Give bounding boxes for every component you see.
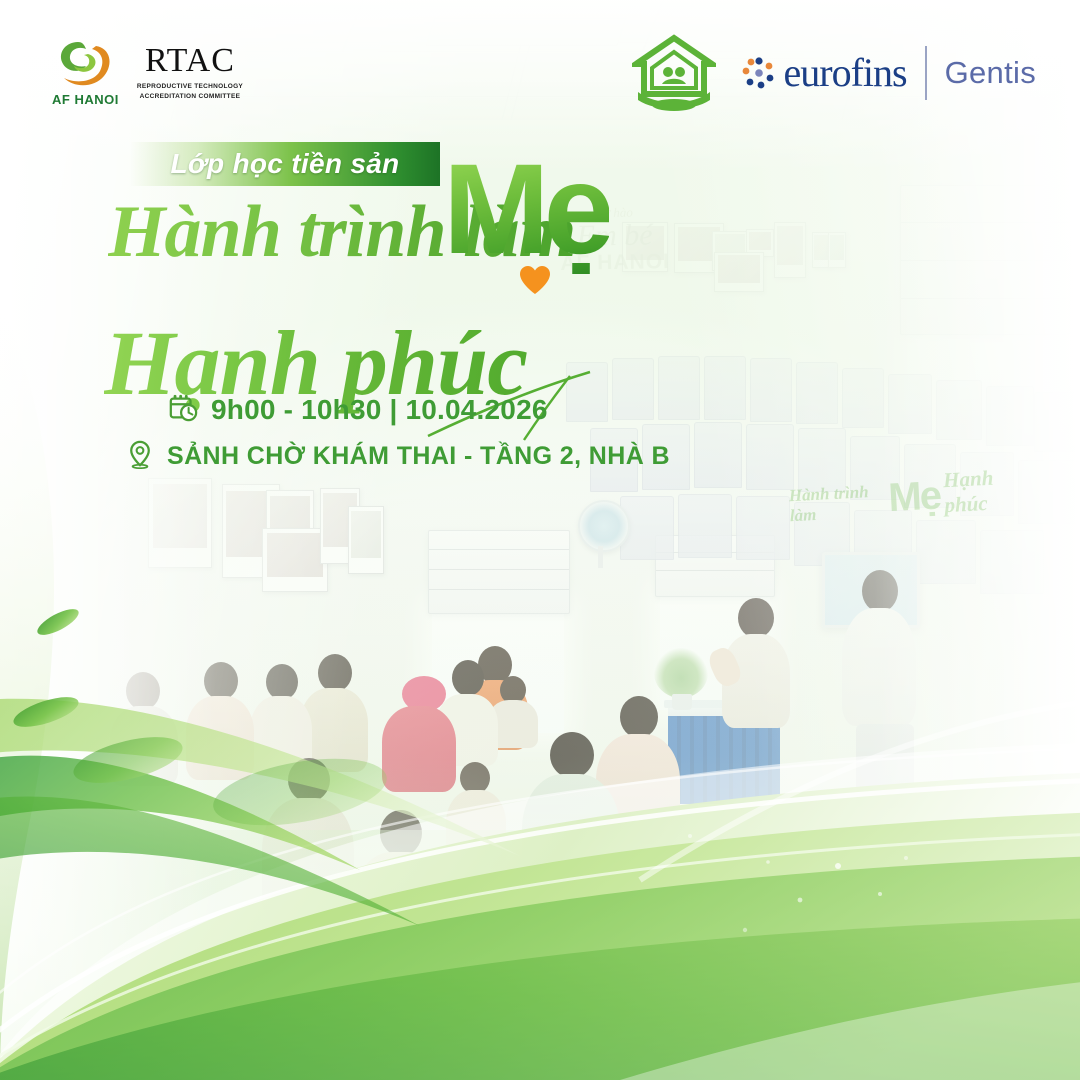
af-hanoi-logo: AF HANOI	[52, 38, 119, 107]
partner-logos-left: AF HANOI RTAC REPRODUCTIVE TECHNOLOGY AC…	[52, 38, 243, 107]
event-time-row: 9h00 - 10h30 | 10.04.2026	[168, 392, 670, 427]
event-info-block: 9h00 - 10h30 | 10.04.2026 SẢNH CHỜ KHÁM …	[168, 392, 670, 486]
rtac-subtitle: REPRODUCTIVE TECHNOLOGY ACCREDITATION CO…	[137, 82, 243, 102]
rtac-sub-line2: ACCREDITATION COMMITTEE	[137, 92, 243, 102]
event-time-text: 9h00 - 10h30 | 10.04.2026	[211, 394, 548, 426]
ribbon-text: Lớp học tiền sản	[171, 148, 400, 180]
event-location-text: SẢNH CHỜ KHÁM THAI - TẦNG 2, NHÀ B	[167, 442, 670, 471]
af-hanoi-label: AF HANOI	[52, 92, 119, 107]
partner-logos-right: eurofins Gentis	[632, 34, 1036, 112]
eurofins-gentis-logo: eurofins Gentis	[742, 46, 1036, 100]
hospital-logo	[632, 34, 716, 112]
location-pin-icon	[126, 439, 154, 474]
headline-line2: Hành trình làm Mẹ Hạnh phúc	[0, 182, 660, 292]
watermark-me: Mẹ	[887, 473, 941, 521]
ribbon-banner: Lớp học tiền sản	[130, 142, 440, 186]
rtac-sub-line1: REPRODUCTIVE TECHNOLOGY	[137, 82, 243, 92]
heart-icon	[519, 265, 551, 295]
gentis-name: Gentis	[945, 55, 1036, 91]
headline-word-me: Mẹ	[443, 146, 609, 274]
event-location-row: SẢNH CHỜ KHÁM THAI - TẦNG 2, NHÀ B	[126, 439, 670, 474]
eurofins-dots-icon	[742, 56, 776, 90]
af-hanoi-swirl-icon	[52, 38, 116, 90]
headline-block: Lớp học tiền sản Hành trình làm Mẹ Hạnh …	[0, 142, 660, 292]
rtac-logo: RTAC REPRODUCTIVE TECHNOLOGY ACCREDITATI…	[137, 44, 243, 102]
watermark-script: Hành trình làm	[788, 481, 885, 526]
watermark-happy: Hạnh phúc	[943, 464, 1031, 518]
wall-watermark: Hành trình làm Mẹ Hạnh phúc	[788, 464, 1032, 566]
rtac-name: RTAC	[145, 44, 235, 78]
calendar-clock-icon	[168, 392, 198, 427]
eurofins-name: eurofins	[784, 53, 907, 93]
poster-canvas: Tự hào Em bé AF HANOI	[0, 0, 1080, 1080]
logo-divider	[925, 46, 927, 100]
